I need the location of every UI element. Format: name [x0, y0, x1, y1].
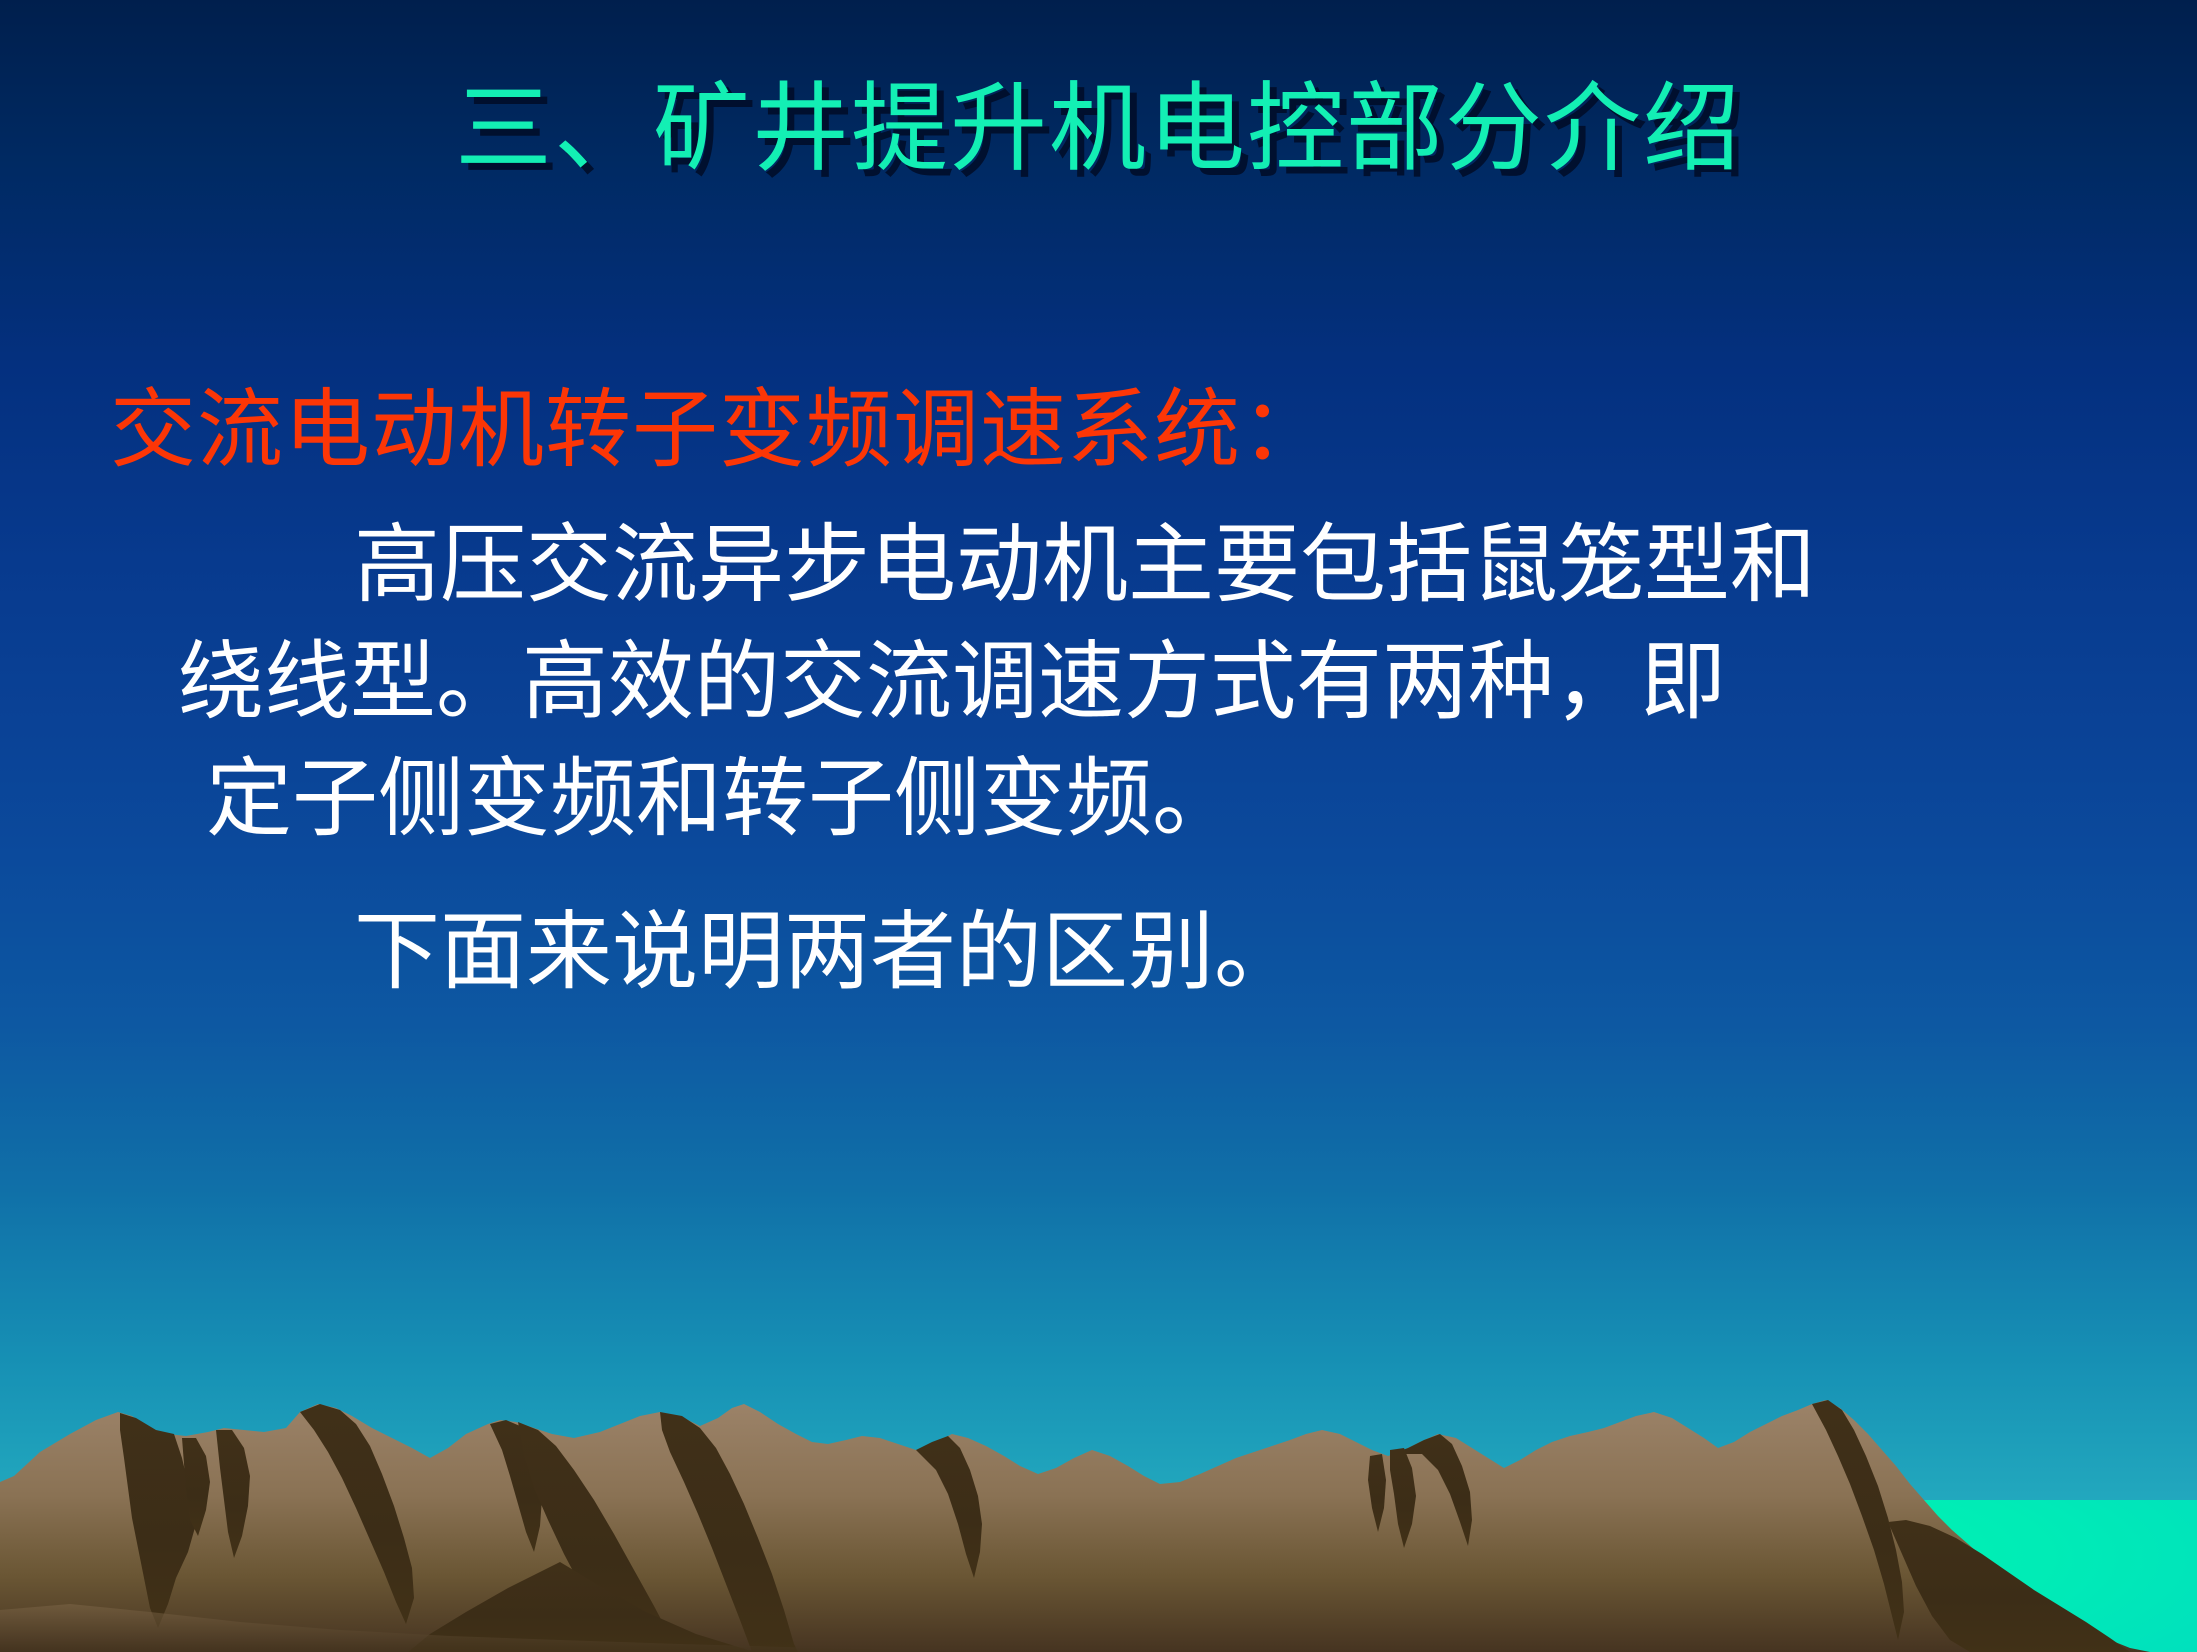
- body-paragraph: 高压交流异步电动机主要包括鼠笼型和 绕线型。高效的交流调速方式有两种，即 定子侧…: [178, 507, 2197, 1011]
- body-line-2: 绕线型。高效的交流调速方式有两种，即: [178, 624, 2197, 741]
- body-line-4: 下面来说明两者的区别。: [178, 894, 2197, 1011]
- slide-title: 三、矿井提升机电控部分介绍: [0, 78, 2197, 180]
- body-line-1: 高压交流异步电动机主要包括鼠笼型和: [178, 507, 2197, 624]
- section-heading: 交流电动机转子变频调速系统：: [110, 380, 2197, 481]
- presentation-slide: 三、矿井提升机电控部分介绍 交流电动机转子变频调速系统： 高压交流异步电动机主要…: [0, 0, 2197, 1652]
- slide-body: 交流电动机转子变频调速系统： 高压交流异步电动机主要包括鼠笼型和 绕线型。高效的…: [0, 380, 2197, 1011]
- mountain-range-illustration: [0, 1372, 2197, 1652]
- body-line-3: 定子侧变频和转子侧变频。: [178, 741, 2197, 858]
